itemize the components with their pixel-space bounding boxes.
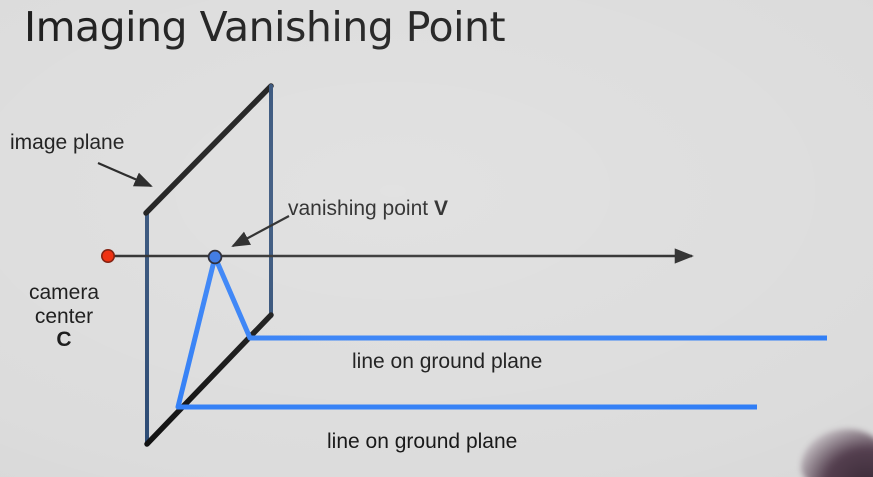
ray-to-near-ground-line bbox=[178, 257, 215, 407]
slide-canvas: Imaging Vanishing Point bbox=[0, 0, 873, 477]
ray-to-far-ground-line bbox=[215, 257, 250, 338]
image-plane-top-edge bbox=[146, 86, 271, 213]
label-ground-line-upper: line on ground plane bbox=[352, 350, 542, 374]
vanishing-point-callout-arrow bbox=[233, 216, 289, 246]
label-camera-center: camera center C bbox=[8, 281, 120, 352]
label-ground-line-lower: line on ground plane bbox=[327, 430, 517, 454]
image-plane-bottom-edge bbox=[147, 315, 271, 444]
label-image-plane: image plane bbox=[10, 131, 124, 155]
vanishing-point-diagram bbox=[0, 0, 873, 477]
camera-center-line2: center bbox=[35, 305, 93, 328]
label-vanishing-point-symbol: V bbox=[434, 197, 448, 220]
camera-center-symbol: C bbox=[8, 328, 120, 352]
label-vanishing-point-text: vanishing point bbox=[288, 197, 434, 220]
vanishing-point-dot bbox=[209, 251, 222, 264]
camera-center-dot bbox=[102, 250, 114, 262]
image-plane-shape bbox=[146, 86, 271, 444]
label-vanishing-point: vanishing point V bbox=[288, 197, 448, 221]
ground-plane-lines bbox=[177, 257, 827, 407]
image-plane-callout-arrow bbox=[98, 163, 151, 186]
camera-center-line1: camera bbox=[29, 281, 99, 304]
